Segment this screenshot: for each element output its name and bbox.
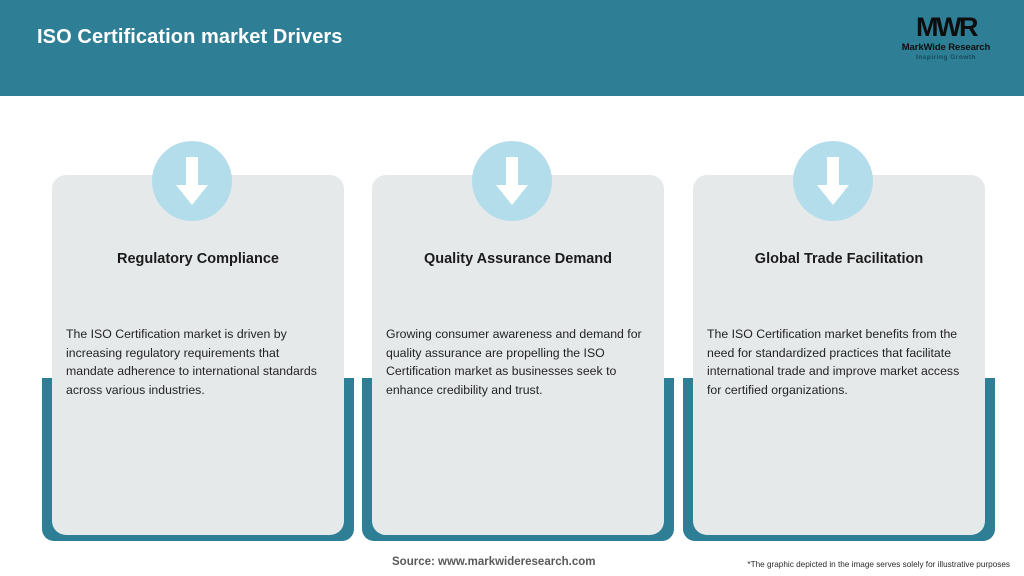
card-title: Global Trade Facilitation [707, 251, 971, 267]
disclaimer-note: *The graphic depicted in the image serve… [747, 560, 1010, 569]
driver-card-list: Regulatory Compliance The ISO Certificat… [0, 0, 1024, 576]
card-body-text: Growing consumer awareness and demand fo… [386, 325, 648, 400]
card-surface: Regulatory Compliance The ISO Certificat… [52, 175, 344, 535]
card-surface: Global Trade Facilitation The ISO Certif… [693, 175, 985, 535]
card-body-text: The ISO Certification market is driven b… [66, 325, 328, 400]
down-arrow-icon [793, 141, 873, 221]
infographic-page: ISO Certification market Drivers MWR Mar… [0, 0, 1024, 576]
down-arrow-icon [472, 141, 552, 221]
source-label: Source: www.markwideresearch.com [392, 556, 595, 568]
down-arrow-icon [152, 141, 232, 221]
card-surface: Quality Assurance Demand Growing consume… [372, 175, 664, 535]
card-title: Regulatory Compliance [66, 251, 330, 267]
card-body-text: The ISO Certification market benefits fr… [707, 325, 969, 400]
card-title: Quality Assurance Demand [386, 251, 650, 267]
